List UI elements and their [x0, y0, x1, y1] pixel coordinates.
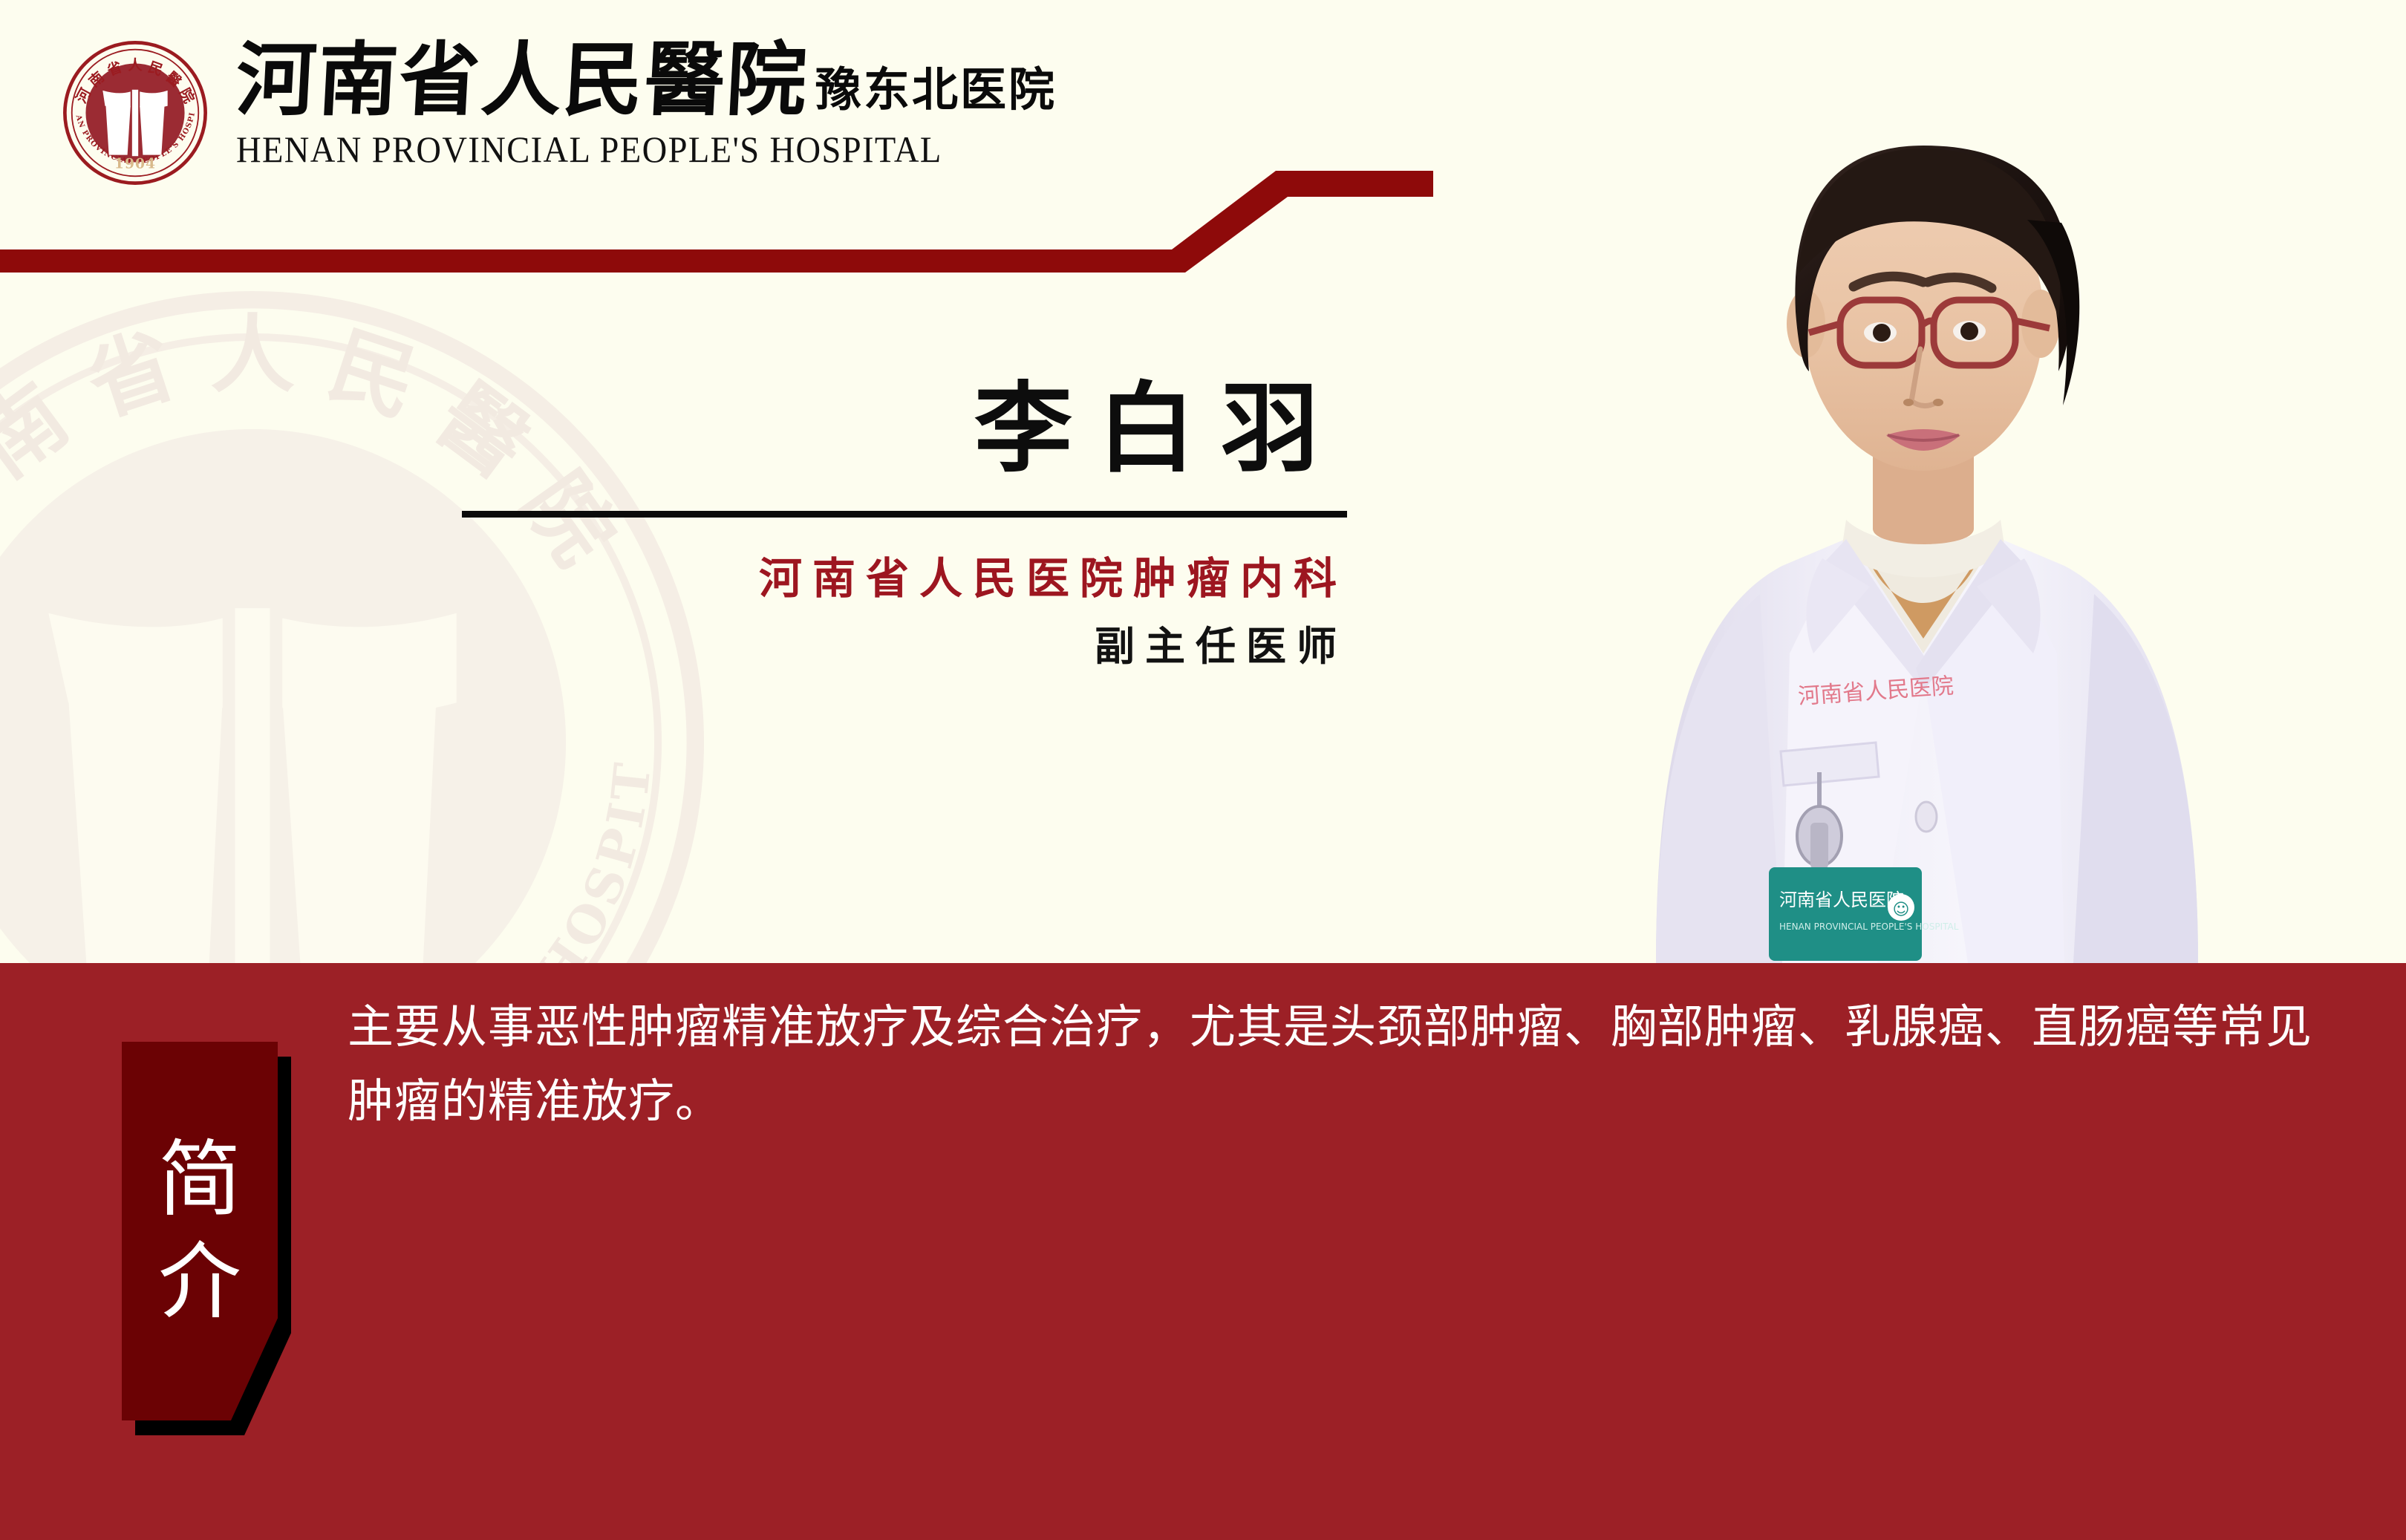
hospital-name-en: HENAN PROVINCIAL PEOPLE'S HOSPITAL: [236, 128, 1000, 171]
hospital-branch-cn: 豫东北医院: [815, 67, 1057, 122]
intro-badge: 简 介: [122, 1042, 315, 1435]
doctor-rank: 副主任医师: [446, 621, 1352, 672]
intro-badge-ribbon: 简 介: [122, 1042, 278, 1420]
name-block: 李白羽 河南省人民医院肿瘤内科 副主任医师: [446, 371, 1352, 672]
name-divider-rule: [462, 511, 1347, 518]
intro-badge-char-1: 简: [158, 1138, 241, 1221]
hospital-name-group: 河南省人民醫院 豫东北医院 HENAN PROVINCIAL PEOPLE'S …: [236, 39, 1057, 171]
hospital-emblem-icon: 河 南 省 人 民 醫 院 HENAN PROVINCIAL PEOPLE'S …: [58, 36, 212, 190]
doctor-name: 李白羽: [446, 371, 1352, 487]
doctor-profile-card: 河 南 省 人 民 醫 院 HENAN PROVINCIAL PEOPLE'S …: [0, 0, 2406, 1540]
svg-text:河南省人民医院: 河南省人民医院: [1779, 890, 1904, 910]
hospital-name-cn: 河南省人民醫院: [234, 39, 810, 122]
svg-text:HENAN PROVINCIAL PEOPLE'S HOSP: HENAN PROVINCIAL PEOPLE'S HOSPITAL: [1779, 921, 1959, 932]
doctor-portrait: 河南省人民医院 河南省人民医院 HENAN PROVINCIAL PEOPLE'…: [1433, 0, 2406, 963]
svg-text:☺: ☺: [1893, 901, 1910, 919]
doctor-department: 河南省人民医院肿瘤内科: [446, 552, 1352, 606]
intro-badge-char-2: 介: [158, 1241, 241, 1324]
svg-text:1904: 1904: [114, 155, 156, 172]
intro-text: 主要从事恶性肿瘤精准放疗及综合治疗，尤其是头颈部肿瘤、胸部肿瘤、乳腺癌、直肠癌等…: [348, 990, 2323, 1139]
